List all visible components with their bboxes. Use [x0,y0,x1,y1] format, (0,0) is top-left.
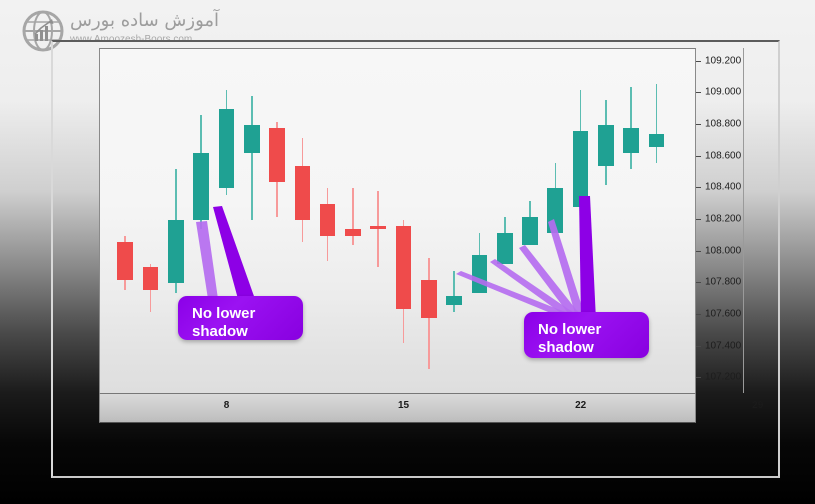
candle-0-bearish [117,49,133,394]
annotation-no-lower-shadow-right: No lower shadow [524,312,649,358]
x-tick-label: 22 [575,400,586,411]
candle-15-bullish [497,49,513,394]
candle-body [269,128,285,182]
y-tick-mark [696,346,701,347]
candle-body [370,226,386,229]
candle-body [573,131,589,207]
candle-10-bearish [370,49,386,394]
candle-body [472,255,488,293]
candle-body [117,242,133,280]
candle-14-bullish [472,49,488,394]
y-tick-label: 107.800 [705,277,741,288]
candle-body [547,188,563,232]
y-tick-label: 108.800 [705,118,741,129]
candle-body [193,153,209,219]
candle-body [168,220,184,283]
y-tick-mark [696,314,701,315]
y-tick-mark [696,61,701,62]
y-tick-mark [696,187,701,188]
candle-wick [352,188,354,245]
y-tick-label: 109.200 [705,55,741,66]
candle-body [244,125,260,153]
y-tick-mark [696,92,701,93]
annotation-no-lower-shadow-left: No lower shadow [178,296,303,340]
y-tick-label: 107.600 [705,308,741,319]
y-tick-label: 109.000 [705,87,741,98]
x-axis: 8152229 [99,393,696,423]
candle-13-bullish [446,49,462,394]
candle-8-bearish [320,49,336,394]
candle-11-bearish [396,49,412,394]
candle-4-bullish [219,49,235,394]
candle-body [446,296,462,305]
brand-url: www.Amoozesh-Boors.com [70,34,192,45]
y-axis: 109.200109.000108.800108.600108.400108.2… [696,48,744,393]
candle-wick [377,191,379,267]
candle-body [295,166,311,220]
candle-body [623,128,639,153]
candle-body [345,229,361,235]
y-tick-label: 107.400 [705,340,741,351]
candle-body [598,125,614,166]
brand-name-fa: آموزش ساده بورس [70,10,219,31]
candle-2-bullish [168,49,184,394]
y-tick-mark [696,377,701,378]
y-tick-label: 108.400 [705,182,741,193]
x-tick-label: 15 [398,400,409,411]
candle-body [649,134,665,147]
y-tick-mark [696,219,701,220]
y-tick-label: 107.200 [705,372,741,383]
candle-7-bearish [295,49,311,394]
y-tick-mark [696,251,701,252]
candle-wick [656,84,658,163]
y-tick-mark [696,282,701,283]
candle-body [320,204,336,236]
candle-21-bullish [649,49,665,394]
y-tick-label: 108.000 [705,245,741,256]
candle-body [497,233,513,265]
candle-9-bearish [345,49,361,394]
candle-6-bearish [269,49,285,394]
candle-5-bullish [244,49,260,394]
screenshot-root: آموزش ساده بورس www.Amoozesh-Boors.com 8… [0,0,815,504]
candle-body [421,280,437,318]
candle-body [219,109,235,188]
y-tick-label: 108.200 [705,213,741,224]
candle-wick [453,271,455,312]
candle-1-bearish [143,49,159,394]
y-tick-mark [696,156,701,157]
globe-chart-icon [22,10,64,52]
y-tick-label: 108.600 [705,150,741,161]
candle-body [396,226,412,308]
candle-body [522,217,538,245]
candle-3-bullish [193,49,209,394]
candle-body [143,267,159,289]
candle-12-bearish [421,49,437,394]
x-tick-label: 29 [752,400,763,411]
x-tick-label: 8 [224,400,230,411]
y-tick-mark [696,124,701,125]
candle-wick [251,96,253,219]
